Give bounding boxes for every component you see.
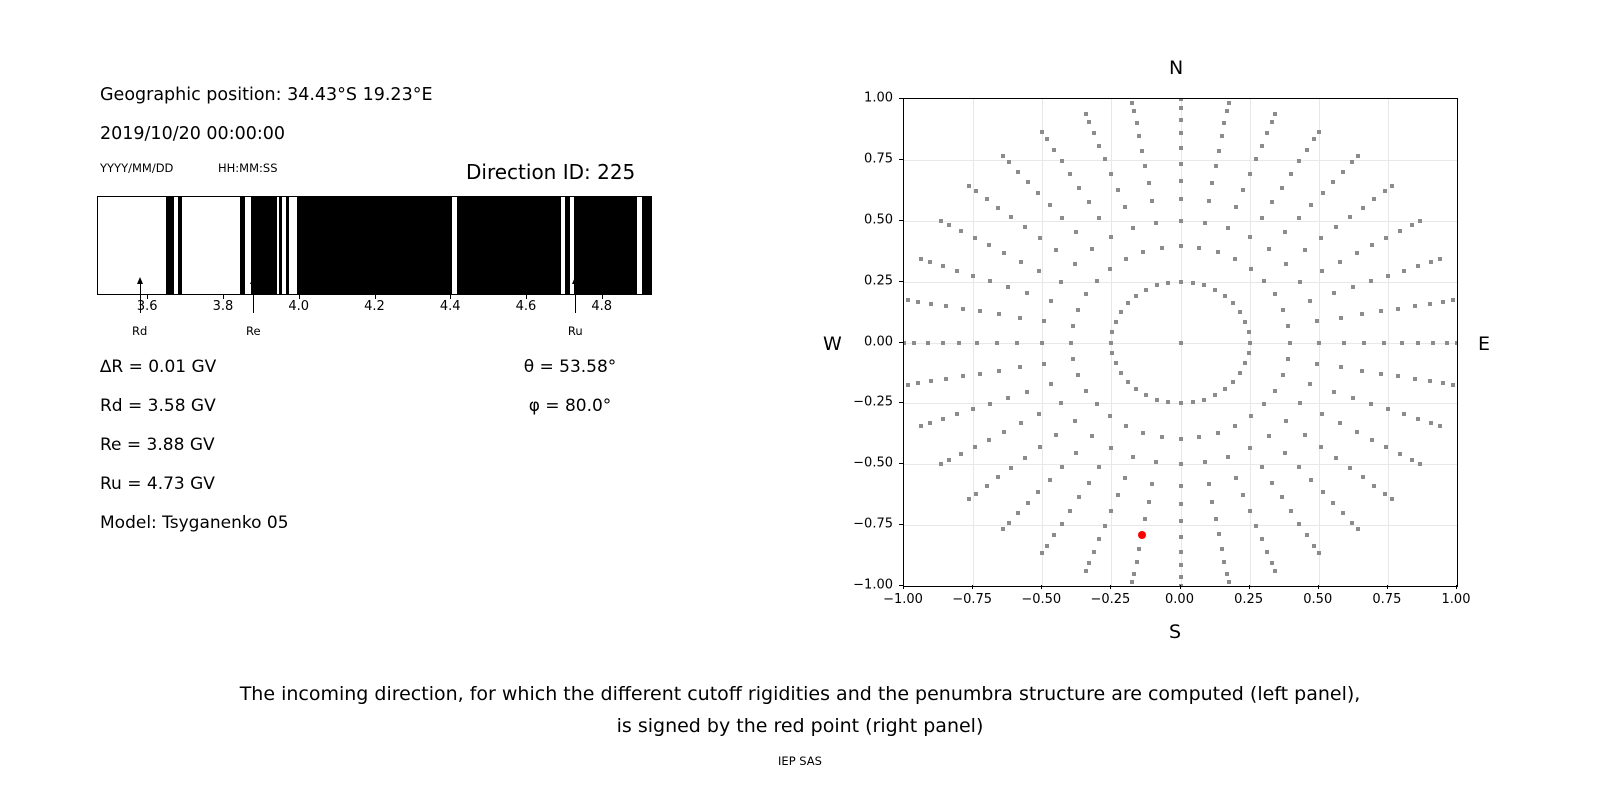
scatter-point [1339,316,1343,320]
penumbra-forbidden-band [166,197,174,294]
scatter-point [1289,172,1293,176]
scatter-point [1223,294,1227,298]
scatter-point [916,381,920,385]
scatter-point [1248,235,1252,239]
scatter-point [1143,517,1147,521]
scatter-point [1009,215,1013,219]
scatter-point [1339,365,1343,369]
caption-line-1: The incoming direction, for which the di… [0,678,1600,710]
scatter-point [1077,186,1081,190]
scatter-point [1042,362,1046,366]
y-axis-tick [899,159,903,160]
scatter-point [1074,230,1078,234]
scatter-point [1191,281,1195,285]
value-model: Model: Tsyganenko 05 [100,513,289,533]
scatter-point [971,407,975,411]
scatter-point [1238,310,1242,314]
scatter-point [928,421,932,425]
scatter-point [1383,492,1387,496]
scatter-point [1179,535,1183,539]
left-panel: Geographic position: 34.43°S 19.23°E 201… [0,0,760,620]
rigidity-marker-arrow-rd [140,283,141,313]
scatter-point [961,307,965,311]
scatter-point [1297,216,1301,220]
scatter-point [1076,308,1080,312]
scatter-point [1073,262,1077,266]
scatter-point [1428,302,1432,306]
scatter-point [1238,371,1242,375]
x-axis-tick-label: 0.00 [1165,592,1194,607]
value-re: Re = 3.88 GV [100,435,215,455]
y-axis-tick [899,524,903,525]
scatter-point [1398,229,1402,233]
scatter-point [1131,226,1135,230]
scatter-point [1045,544,1049,548]
scatter-point [1312,137,1316,141]
scatter-point [1217,532,1221,536]
scatter-point [1243,320,1247,324]
scatter-point [1210,500,1214,504]
scatter-point [973,236,977,240]
scatter-point [1273,112,1277,116]
scatter-point [1108,267,1112,271]
scatter-point [1286,357,1290,361]
scatter-point [1298,401,1302,405]
scatter-point [1315,362,1319,366]
scatter-point [1040,130,1044,134]
scatter-point [1203,221,1207,225]
scatter-point [916,300,920,304]
scatter-point [929,302,933,306]
y-axis-tick-label: −0.50 [841,456,893,471]
scatter-point [1002,430,1006,434]
scatter-point [1350,160,1354,164]
scatter-point [1270,200,1274,204]
scatter-point [1207,482,1211,486]
scatter-point [1048,203,1052,207]
scatter-point [1356,527,1360,531]
scatter-point [1416,264,1420,268]
scatter-point [1110,330,1114,334]
x-axis-tick [903,585,904,589]
scatter-point [1179,401,1183,405]
rigidity-marker-label-ru: Ru [568,324,583,338]
scatter-point [1019,421,1023,425]
rigidity-axis: 3.63.84.04.24.44.64.8RdReRu [97,295,652,350]
scatter-point [1179,484,1183,488]
scatter-point [929,379,933,383]
scatter-point [987,243,991,247]
scatter-point [1227,101,1231,105]
scatter-point [1249,267,1253,271]
scatter-point [1226,226,1230,230]
scatter-point [1109,235,1113,239]
scatter-point [1267,247,1271,251]
scatter-point [1416,417,1420,421]
scatter-point [1109,509,1113,513]
scatter-point [1071,357,1075,361]
x-axis-tick [1456,585,1457,589]
rigidity-marker-arrow-re [253,283,254,313]
polar-scatter-plot [903,98,1458,587]
scatter-point [1400,341,1404,345]
scatter-point [1026,180,1030,184]
scatter-point [1038,445,1042,449]
scatter-point [1226,455,1230,459]
scatter-point [1248,446,1252,450]
scatter-point [1280,186,1284,190]
value-delta-r: ∆R = 0.01 GV [100,357,216,377]
scatter-point [1110,351,1114,355]
y-axis-tick-label: 1.00 [841,91,893,106]
scatter-point [1309,203,1313,207]
scatter-point [1114,320,1118,324]
scatter-point [1116,493,1120,497]
scatter-point [1166,281,1170,285]
rigidity-tick-label: 4.8 [591,299,612,314]
scatter-point [1135,560,1139,564]
scatter-point [1331,180,1335,184]
scatter-point [957,341,961,345]
scatter-point [1179,341,1183,345]
scatter-point [974,189,978,193]
scatter-point [939,462,943,466]
scatter-point [1315,319,1319,323]
scatter-point [1087,481,1091,485]
scatter-point [1009,466,1013,470]
scatter-point [1179,219,1183,223]
scatter-point [1210,181,1214,185]
scatter-point [1362,341,1366,345]
scatter-point [1297,465,1301,469]
scatter-point [1179,519,1183,523]
scatter-point [1418,219,1422,223]
scatter-point [906,298,910,302]
x-axis-tick [1249,585,1250,589]
direction-id-label: Direction ID: 225 [466,160,635,184]
scatter-point [1350,521,1354,525]
scatter-point [1095,279,1099,283]
scatter-point [1396,374,1400,378]
x-axis-tick [1110,585,1111,589]
scatter-point [1048,478,1052,482]
scatter-point [1270,481,1274,485]
scatter-point [1040,551,1044,555]
scatter-point [1289,509,1293,513]
y-axis-tick-label: −0.75 [841,517,893,532]
scatter-point [1338,260,1342,264]
scatter-point [926,341,930,345]
scatter-point [967,497,971,501]
scatter-point [1052,148,1056,152]
scatter-point [1384,236,1388,240]
scatter-point [1141,431,1145,435]
scatter-point [1284,419,1288,423]
scatter-point [1042,319,1046,323]
scatter-point [1234,205,1238,209]
scatter-point [1227,580,1231,584]
x-axis-tick-label: 1.00 [1442,592,1471,607]
y-axis-tick-label: 0.00 [841,334,893,349]
scatter-point [1076,373,1080,377]
scatter-point [1090,434,1094,438]
scatter-point [1126,380,1130,384]
scatter-point [1319,236,1323,240]
figure-caption: The incoming direction, for which the di… [0,678,1600,742]
scatter-point [1355,251,1359,255]
scatter-point [1241,188,1245,192]
x-axis-tick [1041,585,1042,589]
scatter-point [1036,191,1040,195]
scatter-point [1441,381,1445,385]
compass-label-west: W [823,333,842,355]
scatter-point [941,417,945,421]
scatter-point [1321,490,1325,494]
scatter-point [1109,446,1113,450]
scatter-point [944,377,948,381]
rigidity-tick-label: 3.8 [213,299,234,314]
scatter-point [1382,341,1386,345]
scatter-point [1342,341,1346,345]
scatter-point [955,269,959,273]
scatter-point [1087,200,1091,204]
scatter-point [996,475,1000,479]
y-axis-tick-label: 0.50 [841,212,893,227]
scatter-point [919,257,923,261]
scatter-point [1060,216,1064,220]
scatter-point [974,492,978,496]
scatter-point [1002,251,1006,255]
y-axis-tick [899,220,903,221]
scatter-point [1179,131,1183,135]
scatter-point [1045,137,1049,141]
scatter-point [1248,341,1252,345]
scatter-point [1154,460,1158,464]
scatter-point [1332,291,1336,295]
scatter-point [941,264,945,268]
x-axis-tick-label: 0.25 [1234,592,1263,607]
scatter-point [1103,524,1107,528]
scatter-point [1369,279,1373,283]
scatter-point [1006,396,1010,400]
scatter-point [947,223,951,227]
x-axis-tick-label: −1.00 [883,592,923,607]
scatter-point [1150,482,1154,486]
scatter-point [1402,412,1406,416]
scatter-point [1036,490,1040,494]
scatter-point [1217,149,1221,153]
scatter-point [978,372,982,376]
scatter-point [1179,179,1183,183]
scatter-point [1054,248,1058,252]
scatter-point [1351,396,1355,400]
selected-direction-point [1138,531,1146,539]
scatter-point [1233,257,1237,261]
scatter-point [1234,476,1238,480]
scatter-point [959,452,963,456]
scatter-point [1049,299,1053,303]
scatter-point [1270,561,1274,565]
scatter-point [944,304,948,308]
scatter-point [1132,572,1136,576]
scatter-point [1092,550,1096,554]
scatter-point [1410,223,1414,227]
scatter-point [1331,501,1335,505]
scatter-point [1386,407,1390,411]
y-axis-tick [899,585,903,586]
scatter-point [1137,547,1141,551]
scatter-point [1134,387,1138,391]
gridline-horizontal [904,525,1457,526]
scatter-point [1179,118,1183,122]
rigidity-tick-label: 4.4 [440,299,461,314]
scatter-point [1134,294,1138,298]
scatter-point [1390,184,1394,188]
x-axis-tick [972,585,973,589]
penumbra-forbidden-band [297,197,638,294]
scatter-point [1019,260,1023,264]
scatter-point [1049,382,1053,386]
scatter-point [1179,244,1183,248]
scatter-point [1124,424,1128,428]
scatter-point [1254,524,1258,528]
scatter-point [1431,341,1435,345]
scatter-point [1140,149,1144,153]
scatter-point [1384,445,1388,449]
rigidity-tick-label: 4.6 [516,299,537,314]
scatter-point [1355,430,1359,434]
scatter-point [1429,260,1433,264]
scatter-point [1305,533,1309,537]
penumbra-allowed-gap [561,197,565,294]
scatter-point [1222,121,1226,125]
y-axis-tick [899,281,903,282]
scatter-point [1320,412,1324,416]
rigidity-marker-arrow-ru [575,283,576,313]
scatter-point [1398,452,1402,456]
scatter-point [1317,130,1321,134]
scatter-point [1338,421,1342,425]
scatter-point [1135,121,1139,125]
scatter-point [1179,563,1183,567]
scatter-point [1243,361,1247,365]
scatter-point [1119,371,1123,375]
scatter-point [988,402,992,406]
x-axis-tick-label: 0.75 [1372,592,1401,607]
scatter-point [1060,465,1064,469]
scatter-point [1341,511,1345,515]
scatter-point [1179,98,1183,101]
scatter-point [1006,285,1010,289]
scatter-point [1249,414,1253,418]
scatter-point [978,309,982,313]
scatter-point [1280,495,1284,499]
scatter-point [1317,341,1321,345]
scatter-point [1179,550,1183,554]
scatter-point [1254,157,1258,161]
scatter-point [959,229,963,233]
scatter-point [939,219,943,223]
scatter-point [1026,501,1030,505]
scatter-point [1265,131,1269,135]
y-axis-tick-label: 0.75 [841,151,893,166]
rigidity-marker-label-rd: Rd [132,324,147,338]
compass-label-north: N [1169,57,1183,79]
scatter-point [1060,159,1064,163]
rigidity-tick-label: 4.2 [364,299,385,314]
scatter-point [1413,377,1417,381]
scatter-point [1214,164,1218,168]
scatter-point [1016,170,1020,174]
scatter-point [1071,324,1075,328]
scatter-point [1103,157,1107,161]
scatter-point [1248,172,1252,176]
scatter-point [1305,148,1309,152]
scatter-point [1348,215,1352,219]
scatter-point [1069,341,1073,345]
date-format-hint: YYYY/MM/DD [100,161,173,175]
scatter-point [1396,307,1400,311]
x-axis-tick-label: 0.50 [1303,592,1332,607]
scatter-point [961,374,965,378]
right-panel: N W E S −1.00−0.75−0.50−0.250.000.250.50… [790,0,1600,680]
scatter-point [1438,257,1442,261]
scatter-point [1270,120,1274,124]
scatter-point [1150,199,1154,203]
penumbra-forbidden-band [642,197,651,294]
rigidity-tick-label: 4.0 [288,299,309,314]
scatter-point [1052,533,1056,537]
scatter-point [1341,170,1345,174]
scatter-point [1298,280,1302,284]
scatter-point [1351,285,1355,289]
y-axis-tick-label: −1.00 [841,578,893,593]
scatter-point [1166,400,1170,404]
scatter-point [1309,478,1313,482]
x-axis-tick [1387,585,1388,589]
scatter-point [1317,551,1321,555]
scatter-point [1023,456,1027,460]
scatter-point [1207,199,1211,203]
scatter-point [1260,537,1264,541]
scatter-point [1216,250,1220,254]
scatter-point [1154,221,1158,225]
value-theta: θ = 53.58° [524,357,617,377]
scatter-point [1202,398,1206,402]
scatter-point [1141,250,1145,254]
scatter-point [1370,243,1374,247]
scatter-point [1023,225,1027,229]
y-axis-tick [899,342,903,343]
compass-label-south: S [1169,621,1181,643]
scatter-point [1109,172,1113,176]
scatter-point [1109,341,1113,345]
scatter-point [1361,206,1365,210]
scatter-point [996,206,1000,210]
scatter-point [1087,561,1091,565]
scatter-point [1179,437,1183,441]
scatter-point [903,341,906,345]
scatter-point [1231,380,1235,384]
scatter-point [912,341,916,345]
scatter-point [1131,455,1135,459]
scatter-point [1179,197,1183,201]
scatter-point [1441,300,1445,304]
scatter-point [941,341,945,345]
scatter-point [1383,189,1387,193]
scatter-point [1390,497,1394,501]
scatter-point [1137,134,1141,138]
